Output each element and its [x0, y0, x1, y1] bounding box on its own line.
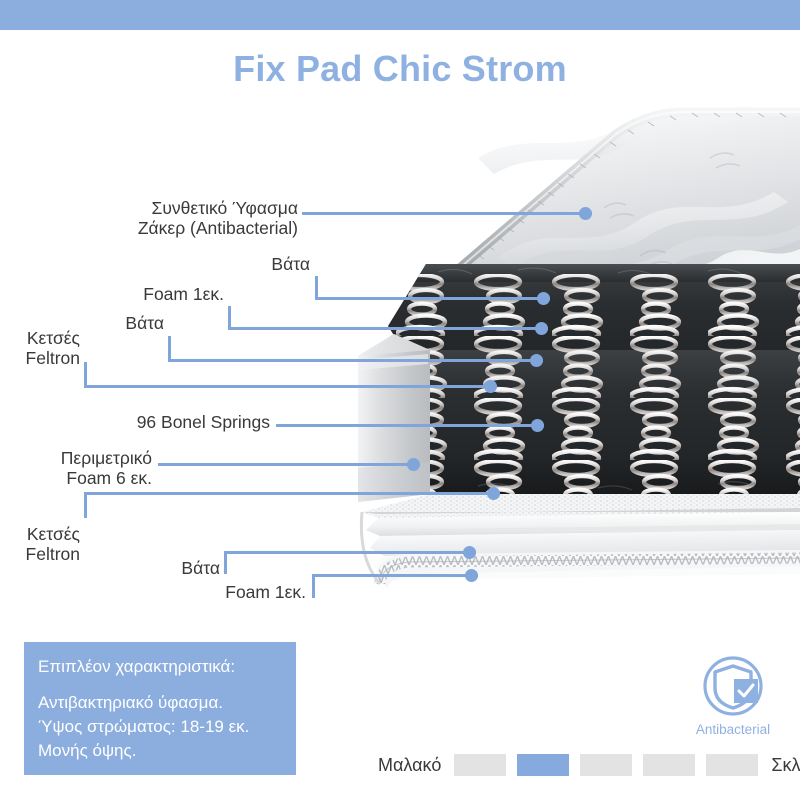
features-heading: Επιπλέον χαρακτηριστικά: [38, 655, 296, 679]
leader-dot [531, 419, 544, 432]
callout-label-felt-top: Κετσές Feltron [10, 328, 80, 369]
callout-label-felt-bottom: Κετσές Feltron [10, 524, 80, 565]
callout-label-foam-top: Foam 1εκ. [124, 284, 224, 304]
feature-item: Ύψος στρώματος: 18-19 εκ. [38, 715, 296, 739]
leader-dot [465, 569, 478, 582]
leader-dot [407, 458, 420, 471]
callout-label-springs: 96 Bonel Springs [88, 412, 270, 432]
callout-label-vata-top: Βάτα [248, 254, 310, 274]
callout-label-vata-top-2: Βάτα [104, 313, 164, 333]
antibacterial-badge: Antibacterial [686, 655, 780, 741]
features-list: Αντιβακτηριακό ύφασμα. Ύψος στρώματος: 1… [38, 691, 296, 763]
leader-segment [158, 463, 420, 466]
leader-segment [315, 297, 550, 300]
leader-segment [312, 574, 478, 577]
leader-segment [224, 551, 476, 554]
firmness-segments [454, 754, 758, 776]
leader-dot [530, 354, 543, 367]
feature-item: Μονής όψης. [38, 739, 296, 763]
leader-segment-vertical [224, 551, 227, 574]
firmness-segment-1[interactable] [454, 754, 506, 776]
leader-segment [276, 424, 544, 427]
shield-check-icon [686, 655, 780, 721]
firmness-segment-4[interactable] [643, 754, 695, 776]
firmness-segment-3[interactable] [580, 754, 632, 776]
leader-dot [484, 380, 497, 393]
leader-segment-vertical [312, 574, 315, 598]
leader-segment-vertical [84, 492, 87, 518]
mattress-cutaway-illustration [318, 88, 800, 618]
callout-label-perimeter-foam: Περιμετρικό Foam 6 εκ. [10, 448, 152, 489]
leader-segment [84, 385, 497, 388]
firmness-scale: Μαλακό Σκληρό [378, 748, 790, 782]
leader-dot [487, 487, 500, 500]
leader-dot [579, 207, 592, 220]
leader-segment [302, 212, 592, 215]
leader-dot [535, 322, 548, 335]
callout-label-cover: Συνθετικό Ύφασμα Ζάκερ (Antibacterial) [60, 198, 298, 239]
callout-label-vata-bottom: Βάτα [158, 558, 220, 578]
leader-dot [463, 546, 476, 559]
leader-segment [168, 359, 543, 362]
firmness-segment-5[interactable] [706, 754, 758, 776]
leader-segment [228, 327, 548, 330]
firmness-segment-2[interactable] [517, 754, 569, 776]
additional-features-box: Επιπλέον χαρακτηριστικά: Αντιβακτηριακό … [24, 642, 296, 775]
page-title: Fix Pad Chic Strom [0, 48, 800, 90]
badge-caption: Antibacterial [686, 722, 780, 737]
callout-label-foam-bottom: Foam 1εκ. [204, 582, 306, 602]
top-accent-bar [0, 0, 800, 30]
leader-segment [84, 492, 500, 495]
firmness-hard-label: Σκληρό [771, 755, 800, 776]
firmness-soft-label: Μαλακό [378, 755, 441, 776]
feature-item: Αντιβακτηριακό ύφασμα. [38, 691, 296, 715]
leader-dot [537, 292, 550, 305]
